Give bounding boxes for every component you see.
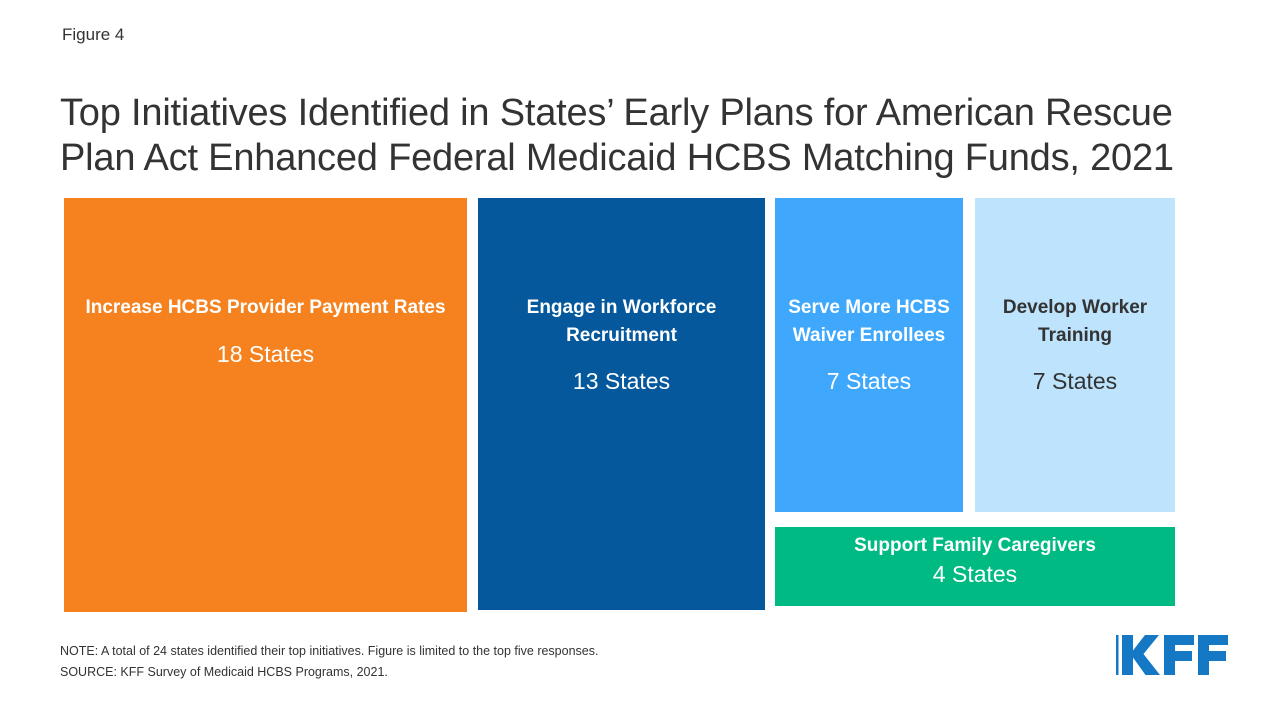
footnote-note: NOTE: A total of 24 states identified th… xyxy=(60,641,598,662)
tile-label: Serve More HCBS Waiver Enrollees xyxy=(785,294,953,349)
tile-label: Develop Worker Training xyxy=(985,294,1165,349)
tile-text-block: Engage in Workforce Recruitment 13 State… xyxy=(478,294,765,397)
footnote-source: SOURCE: KFF Survey of Medicaid HCBS Prog… xyxy=(60,662,598,683)
tile-text-block: Develop Worker Training 7 States xyxy=(975,294,1175,397)
kff-logo xyxy=(1114,633,1232,677)
tile-label: Support Family Caregivers xyxy=(785,532,1165,560)
treemap-tile-workforce-recruitment[interactable]: Engage in Workforce Recruitment 13 State… xyxy=(478,198,765,610)
tile-spacer xyxy=(488,349,755,367)
footnotes: NOTE: A total of 24 states identified th… xyxy=(60,641,598,682)
tile-value: 7 States xyxy=(985,367,1165,397)
tile-text-block: Serve More HCBS Waiver Enrollees 7 State… xyxy=(775,294,963,397)
tile-spacer xyxy=(785,349,953,367)
tile-value: 4 States xyxy=(785,560,1165,590)
tile-label: Increase HCBS Provider Payment Rates xyxy=(74,294,457,322)
tile-spacer xyxy=(74,322,457,340)
tile-value: 13 States xyxy=(488,367,755,397)
tile-text-block: Increase HCBS Provider Payment Rates 18 … xyxy=(64,294,467,369)
tile-value: 7 States xyxy=(785,367,953,397)
tile-value: 18 States xyxy=(74,340,457,370)
treemap-chart: Increase HCBS Provider Payment Rates 18 … xyxy=(0,0,1280,720)
tile-spacer xyxy=(985,349,1165,367)
treemap-tile-worker-training[interactable]: Develop Worker Training 7 States xyxy=(975,198,1175,512)
tile-text-block: Support Family Caregivers 4 States xyxy=(775,532,1175,589)
treemap-tile-waiver-enrollees[interactable]: Serve More HCBS Waiver Enrollees 7 State… xyxy=(775,198,963,512)
treemap-tile-family-caregivers[interactable]: Support Family Caregivers 4 States xyxy=(775,527,1175,606)
treemap-tile-increase-rates[interactable]: Increase HCBS Provider Payment Rates 18 … xyxy=(64,198,467,612)
tile-label: Engage in Workforce Recruitment xyxy=(488,294,755,349)
